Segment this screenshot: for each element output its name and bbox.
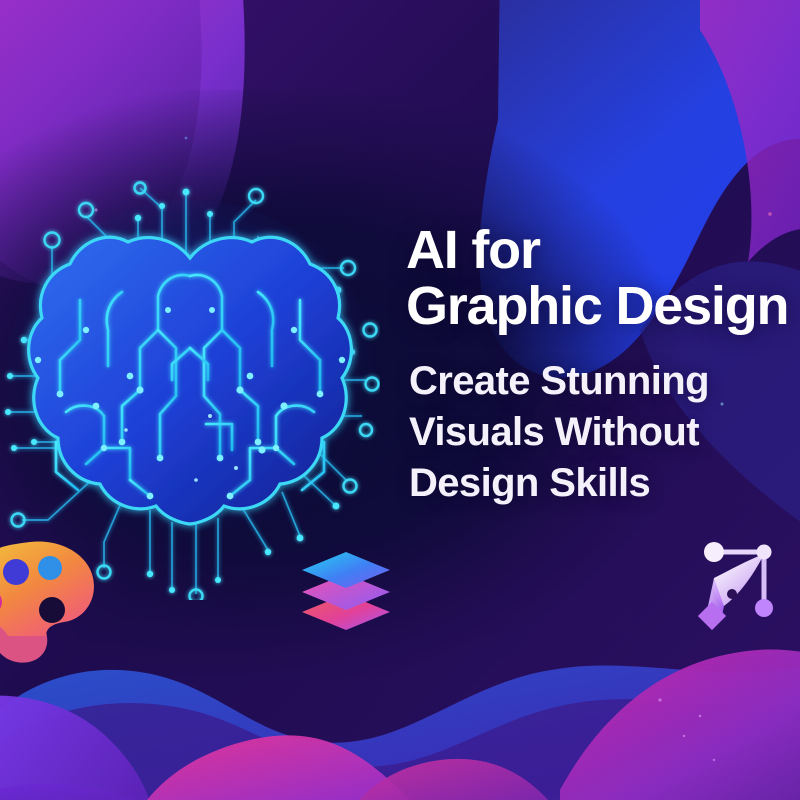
palette-dot-blue-violet [3,559,29,585]
stacked-layers-icon [298,548,394,634]
pen-tool-icon [698,536,786,634]
palette-dot-blue [38,556,62,580]
pen-anchor-top-left [704,542,724,562]
pen-anchor-bottom [755,599,773,617]
pen-anchor-corner [757,545,772,560]
pen-nib-hole [727,589,737,599]
design-banner: AI for Graphic Design Create Stunning Vi… [0,0,800,800]
layer-top [302,552,390,588]
palette-thumb-hole [39,597,65,623]
paint-palette-icon [0,536,98,640]
